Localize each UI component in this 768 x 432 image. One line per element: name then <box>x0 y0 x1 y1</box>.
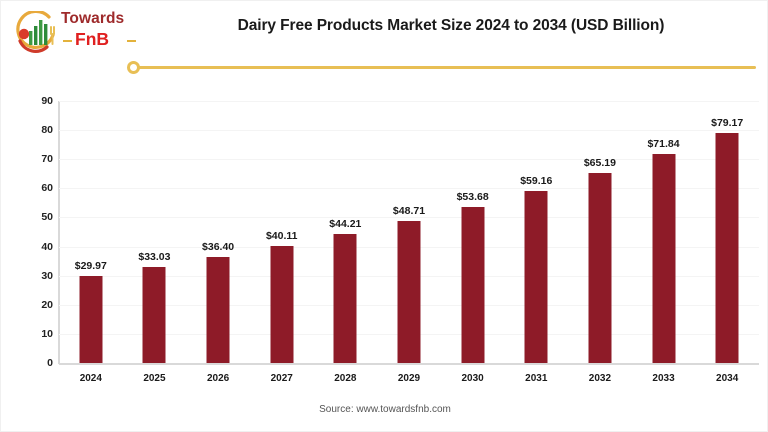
x-axis-tick-label: 2029 <box>398 373 420 384</box>
towards-fnb-logo-icon <box>13 11 59 53</box>
brand-logo-text: Towards FnB <box>61 10 141 54</box>
x-axis-tick-label: 2025 <box>143 373 165 384</box>
x-axis-tick-label: 2034 <box>716 373 738 384</box>
circle-marker-icon <box>127 61 140 74</box>
bar[interactable] <box>207 257 230 363</box>
header-divider <box>131 66 756 69</box>
bar[interactable] <box>716 133 739 363</box>
source-note: Source: www.towardsfnb.com <box>1 404 768 415</box>
bar-value-label: $48.71 <box>393 205 425 217</box>
chart-header: Towards FnB Dairy Free Products Market S… <box>1 1 768 59</box>
bar-group[interactable]: $29.972024 <box>59 101 123 363</box>
bar-group[interactable]: $59.162031 <box>504 101 568 363</box>
bar-group[interactable]: $79.172034 <box>695 101 759 363</box>
bar[interactable] <box>334 234 357 363</box>
y-axis-tick-label: 20 <box>41 299 53 311</box>
logo-word-towards: Towards <box>61 10 124 28</box>
bar[interactable] <box>588 173 611 363</box>
bar-value-label: $33.03 <box>138 251 170 263</box>
bar-value-label: $71.84 <box>647 138 679 150</box>
bar-value-label: $44.21 <box>329 218 361 230</box>
bar-value-label: $29.97 <box>75 260 107 272</box>
bar-group[interactable]: $71.842033 <box>632 101 696 363</box>
x-axis-tick-label: 2031 <box>525 373 547 384</box>
bar-group[interactable]: $44.212028 <box>314 101 378 363</box>
x-axis-tick-label: 2024 <box>80 373 102 384</box>
y-axis-tick-label: 10 <box>41 328 53 340</box>
bar-value-label: $36.40 <box>202 241 234 253</box>
bar-value-label: $65.19 <box>584 157 616 169</box>
bar-value-label: $79.17 <box>711 117 743 129</box>
bar-group[interactable]: $33.032025 <box>123 101 187 363</box>
x-axis-tick-label: 2032 <box>589 373 611 384</box>
y-axis-tick-label: 60 <box>41 182 53 194</box>
y-axis-tick-label: 0 <box>47 357 53 369</box>
bar[interactable] <box>270 246 293 363</box>
bar-value-label: $40.11 <box>266 230 298 242</box>
bar-group[interactable]: $36.402026 <box>186 101 250 363</box>
x-axis-tick-label: 2033 <box>652 373 674 384</box>
y-axis-tick-label: 40 <box>41 241 53 253</box>
logo-dash-left-icon <box>63 40 72 42</box>
plot-area: 0102030405060708090$29.972024$33.032025$… <box>59 101 759 363</box>
y-axis-tick-label: 70 <box>41 153 53 165</box>
y-axis-tick-label: 80 <box>41 124 53 136</box>
logo-word-fnb: FnB <box>75 29 109 50</box>
bar-group[interactable]: $53.682030 <box>441 101 505 363</box>
brand-logo[interactable]: Towards FnB <box>13 9 141 55</box>
x-axis-line <box>59 363 759 365</box>
bar[interactable] <box>143 267 166 363</box>
y-axis-tick-label: 90 <box>41 95 53 107</box>
bar-value-label: $53.68 <box>457 191 489 203</box>
bar[interactable] <box>525 191 548 363</box>
bar[interactable] <box>79 276 102 363</box>
bar[interactable] <box>461 207 484 363</box>
logo-dash-right-icon <box>127 40 136 42</box>
x-axis-tick-label: 2028 <box>334 373 356 384</box>
x-axis-tick-label: 2027 <box>271 373 293 384</box>
bar[interactable] <box>652 154 675 363</box>
page-title: Dairy Free Products Market Size 2024 to … <box>151 17 751 35</box>
bar-group[interactable]: $65.192032 <box>568 101 632 363</box>
bar-value-label: $59.16 <box>520 175 552 187</box>
y-axis-tick-label: 30 <box>41 270 53 282</box>
bar[interactable] <box>397 221 420 363</box>
y-axis-tick-label: 50 <box>41 211 53 223</box>
chart-page: Towards FnB Dairy Free Products Market S… <box>0 0 768 432</box>
x-axis-tick-label: 2030 <box>462 373 484 384</box>
x-axis-tick-label: 2026 <box>207 373 229 384</box>
bar-group[interactable]: $48.712029 <box>377 101 441 363</box>
bar-group[interactable]: $40.112027 <box>250 101 314 363</box>
